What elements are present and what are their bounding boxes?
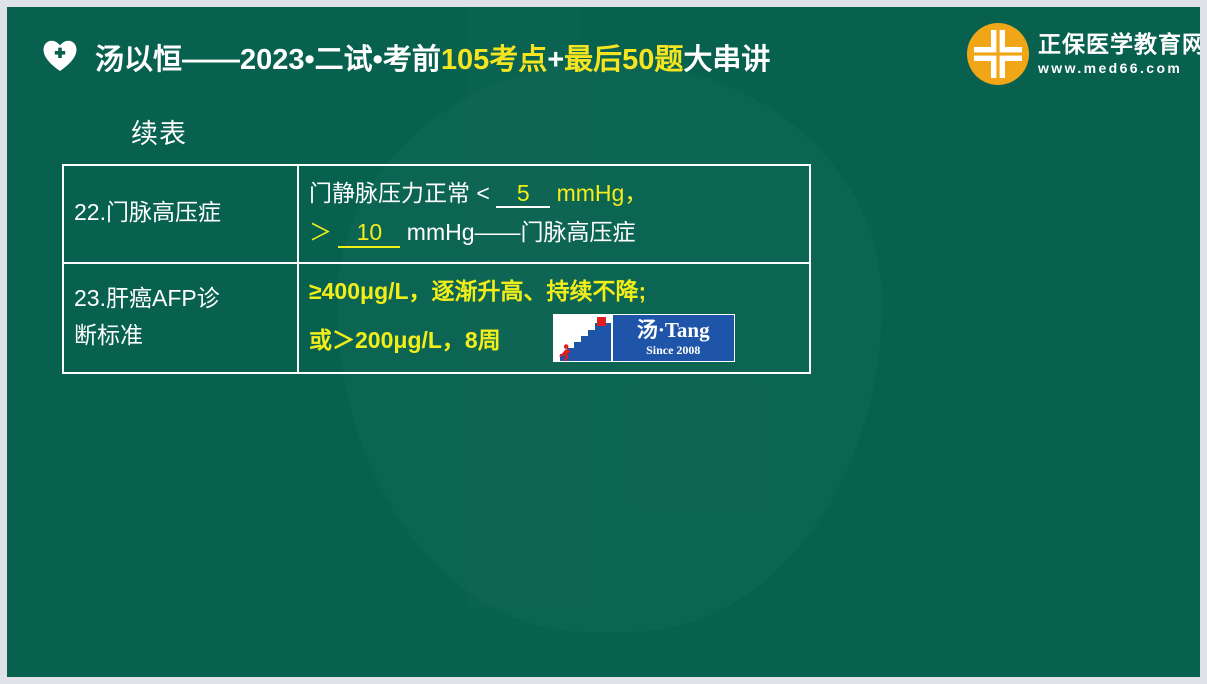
content-table: 22.门脉高压症 门静脉压力正常 < 5 mmHg， ＞ 10 — [62, 164, 811, 374]
brand-url: www.med66.com — [1038, 60, 1200, 76]
table-cell-body-23: ≥400μg/L，逐渐升高、持续不降; 或＞200μg/L，8周 — [298, 263, 810, 373]
row22-line-1: 门静脉压力正常 < 5 mmHg， — [309, 174, 799, 213]
tang-runner-icon — [558, 341, 572, 359]
heart-with-cross-icon — [43, 40, 77, 72]
section-subtitle: 续表 — [131, 112, 187, 151]
row-label-22: 22.门脉高压症 — [74, 194, 287, 231]
row22-line1-suffix: mmHg， — [557, 180, 648, 206]
med66-cross-circle-icon — [966, 22, 1030, 86]
brand-logo-text: 正保医学教育网 www.med66.com — [1038, 32, 1200, 76]
table-row: 23.肝癌AFP诊 断标准 ≥400μg/L，逐渐升高、持续不降; 或＞200μ… — [63, 263, 810, 373]
row-body-22: 门静脉压力正常 < 5 mmHg， ＞ 10 mmHg——门脉高压症 — [309, 174, 799, 252]
row22-blank-value-2: 10 — [338, 219, 400, 247]
page-title: 汤以恒——2023•二试•考前105考点+最后50题大串讲 — [95, 36, 770, 78]
title-part-highlight-2: 最后50题 — [564, 44, 683, 76]
tang-brand-badge: 汤·Tang Since 2008 — [553, 314, 735, 362]
row23-label-line-1: 23.肝癌AFP诊 — [74, 280, 287, 317]
row22-line-2: ＞ 10 mmHg——门脉高压症 — [309, 213, 799, 252]
title-part-plus: + — [547, 44, 564, 76]
row23-label-line-2: 断标准 — [74, 317, 287, 354]
title-part-1: 汤以恒——2023•二试•考前 — [95, 44, 441, 76]
title-part-highlight-1: 105考点 — [441, 44, 547, 76]
row22-line2-suffix: mmHg——门脉高压症 — [407, 219, 636, 245]
row22-line2-prefix: ＞ — [309, 219, 332, 245]
brand-logo: 正保医学教育网 www.med66.com — [966, 21, 1188, 87]
table-row: 22.门脉高压症 门静脉压力正常 < 5 mmHg， ＞ 10 — [63, 165, 810, 263]
tang-flag-icon — [597, 317, 606, 326]
brand-name: 正保医学教育网 — [1038, 32, 1200, 56]
presentation-slide: 汤以恒——2023•二试•考前105考点+最后50题大串讲 正保医学教育网 ww… — [7, 7, 1200, 677]
slide-header: 汤以恒——2023•二试•考前105考点+最后50题大串讲 正保医学教育网 ww… — [7, 7, 1200, 99]
row22-line1-prefix: 门静脉压力正常 < — [309, 180, 490, 206]
table-cell-label-23: 23.肝癌AFP诊 断标准 — [63, 263, 298, 373]
table-cell-label-22: 22.门脉高压症 — [63, 165, 298, 263]
tang-name: 汤·Tang — [637, 320, 710, 341]
row-label-23: 23.肝癌AFP诊 断标准 — [74, 280, 287, 355]
row23-line-1: ≥400μg/L，逐渐升高、持续不降; — [309, 272, 799, 306]
row22-blank-value-1: 5 — [496, 180, 550, 208]
slide-viewer: 汤以恒——2023•二试•考前105考点+最后50题大串讲 正保医学教育网 ww… — [0, 0, 1207, 684]
tang-name-block: 汤·Tang Since 2008 — [612, 315, 734, 361]
tang-since: Since 2008 — [646, 344, 700, 356]
row23-line-2-wrap: 或＞200μg/L，8周 — [309, 314, 799, 362]
table-cell-body-22: 门静脉压力正常 < 5 mmHg， ＞ 10 mmHg——门脉高压症 — [298, 165, 810, 263]
title-part-3: 大串讲 — [683, 44, 770, 76]
row23-line-2: 或＞200μg/L，8周 — [309, 321, 501, 355]
tang-stairs-graphic — [554, 315, 612, 361]
